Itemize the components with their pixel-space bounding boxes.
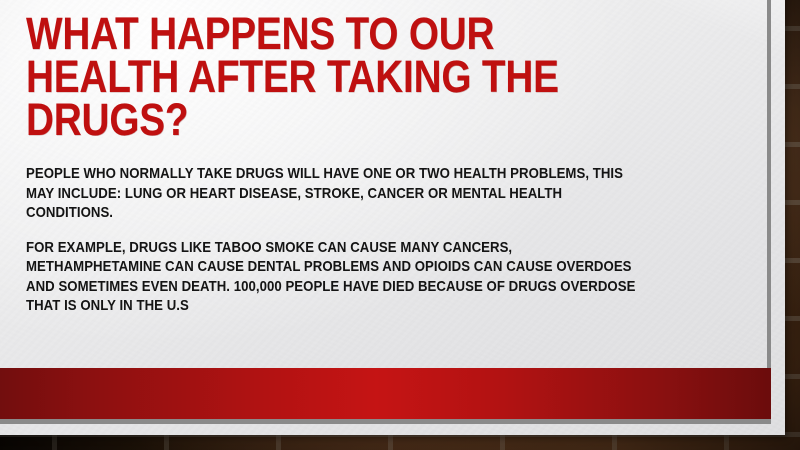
body-paragraph-1: People who normally take drugs will have… <box>26 164 642 223</box>
footer-red-band <box>0 368 771 419</box>
footer-gray-rule <box>0 419 771 424</box>
body-paragraph-2: For example, drugs like taboo smoke can … <box>26 238 642 316</box>
presentation-slide: What happens to our health after taking … <box>0 0 800 450</box>
slide-paper-card: What happens to our health after taking … <box>0 0 785 435</box>
slide-body: People who normally take drugs will have… <box>26 164 726 316</box>
card-right-rule <box>767 0 771 415</box>
slide-title: What happens to our health after taking … <box>26 12 594 141</box>
